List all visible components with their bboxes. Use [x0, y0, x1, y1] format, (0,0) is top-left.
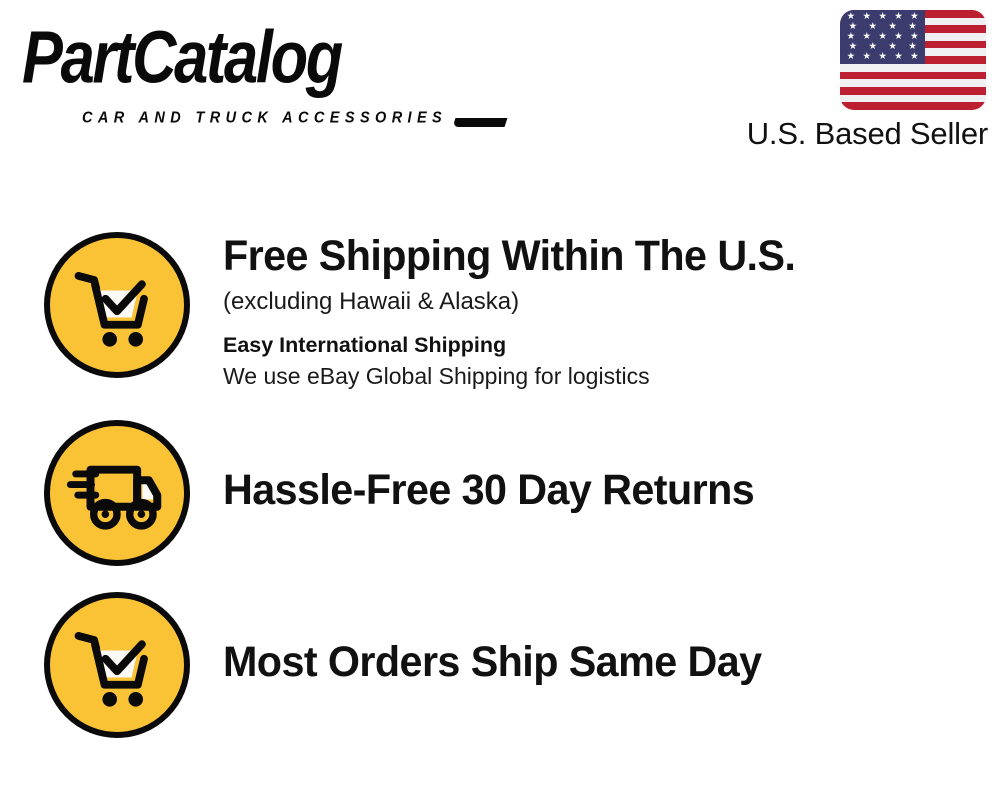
us-flag-icon: ★★★★★ ★★★★ ★★★★★ ★★★★ ★★★★★ — [840, 10, 986, 110]
flag-canton: ★★★★★ ★★★★ ★★★★★ ★★★★ ★★★★★ — [840, 10, 925, 64]
us-flag-badge: ★★★★★ ★★★★ ★★★★★ ★★★★ ★★★★★ — [840, 10, 986, 110]
feature-row-same-day-ship: Most Orders Ship Same Day — [0, 592, 784, 738]
feature-headline: Hassle-Free 30 Day Returns — [223, 422, 754, 514]
star-row: ★★★★★ — [843, 52, 922, 62]
feature-subline: (excluding Hawaii & Alaska) — [223, 287, 819, 318]
feature-subhead-note: We use eBay Global Shipping for logistic… — [223, 362, 819, 391]
feature-text-block: Free Shipping Within The U.S. (excluding… — [223, 232, 819, 391]
feature-subhead: Easy International Shipping — [223, 333, 819, 359]
shopping-cart-check-icon — [44, 592, 190, 738]
feature-row-returns: Hassle-Free 30 Day Returns — [0, 420, 776, 566]
shopping-cart-check-icon — [44, 232, 190, 378]
feature-row-free-shipping: Free Shipping Within The U.S. (excluding… — [0, 232, 819, 391]
logo-underline-swoosh-icon — [453, 118, 508, 127]
feature-text-block: Hassle-Free 30 Day Returns — [223, 420, 776, 514]
us-based-seller-label: U.S. Based Seller — [747, 116, 988, 152]
brand-logo[interactable]: PartCatalog CAR AND TRUCK ACCESSORIES — [22, 24, 492, 116]
feature-text-block: Most Orders Ship Same Day — [223, 592, 784, 686]
feature-headline: Free Shipping Within The U.S. — [223, 234, 795, 280]
feature-headline: Most Orders Ship Same Day — [223, 594, 761, 686]
delivery-truck-icon — [44, 420, 190, 566]
brand-wordmark: PartCatalog — [22, 20, 341, 94]
brand-tagline: CAR AND TRUCK ACCESSORIES — [82, 110, 447, 127]
